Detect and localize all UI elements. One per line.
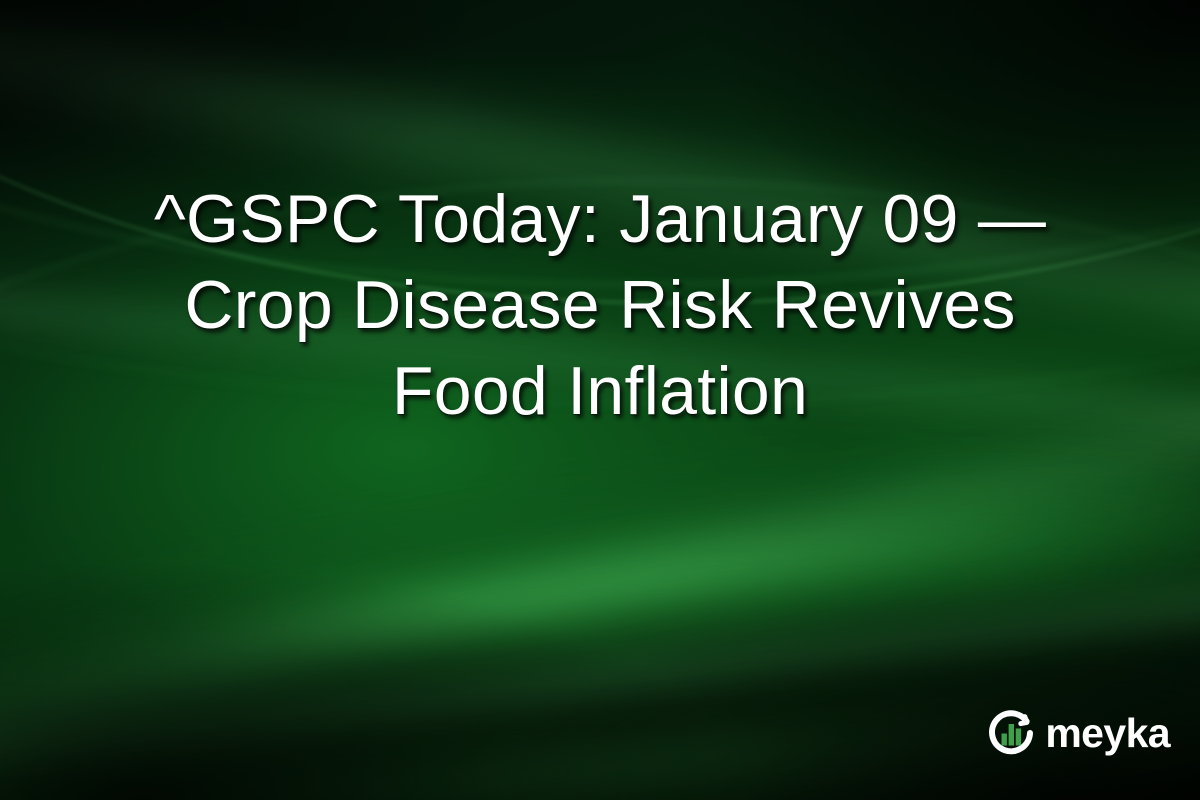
headline: ^GSPC Today: January 09 — Crop Disease R… [0,176,1200,434]
meyka-bar-chart-ring-icon [986,708,1036,758]
background-light-ray-4 [0,531,1200,800]
meyka-wordmark: meyka [1045,713,1170,754]
headline-line-1: ^GSPC Today: January 09 — [70,176,1130,262]
headline-line-3: Food Inflation [70,348,1130,434]
background-wave-highlight-thin [0,408,1200,752]
headline-line-2: Crop Disease Risk Revives [70,262,1130,348]
social-card: ^GSPC Today: January 09 — Crop Disease R… [0,0,1200,800]
meyka-logo[interactable]: meyka [986,708,1170,758]
